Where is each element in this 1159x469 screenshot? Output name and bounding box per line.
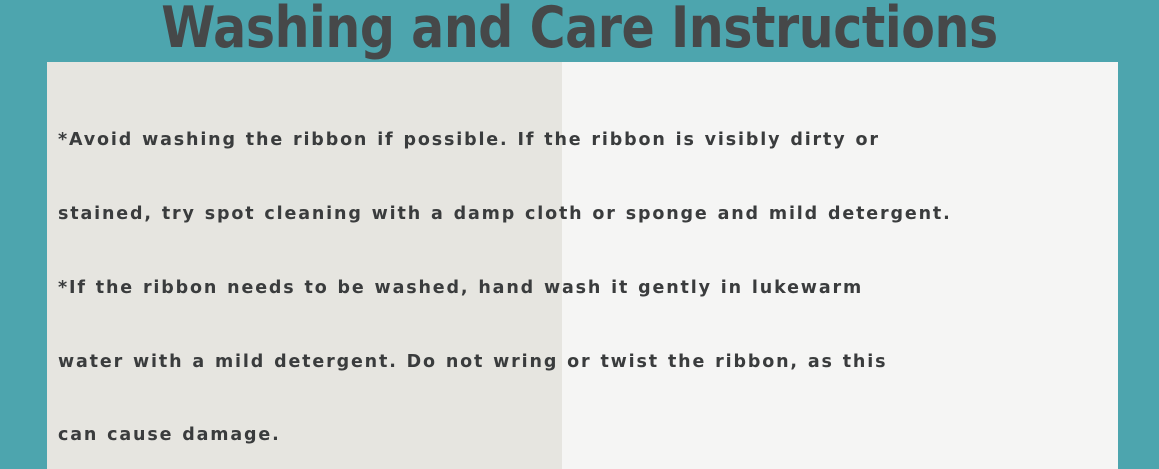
instruction-line: stained, try spot cleaning with a damp c… [58,202,1112,227]
instructions-text-block: *Avoid washing the ribbon if possible. I… [58,79,1112,469]
instructions-card: *Avoid washing the ribbon if possible. I… [47,62,1118,469]
poster-canvas: Washing and Care Instructions *Avoid was… [0,0,1159,469]
instruction-line: *If the ribbon needs to be washed, hand … [58,276,1112,301]
page-title: Washing and Care Instructions [81,0,1078,60]
instruction-line: water with a mild detergent. Do not wrin… [58,350,1112,375]
instruction-line: *Avoid washing the ribbon if possible. I… [58,128,1112,153]
instruction-line: can cause damage. [58,423,1112,448]
